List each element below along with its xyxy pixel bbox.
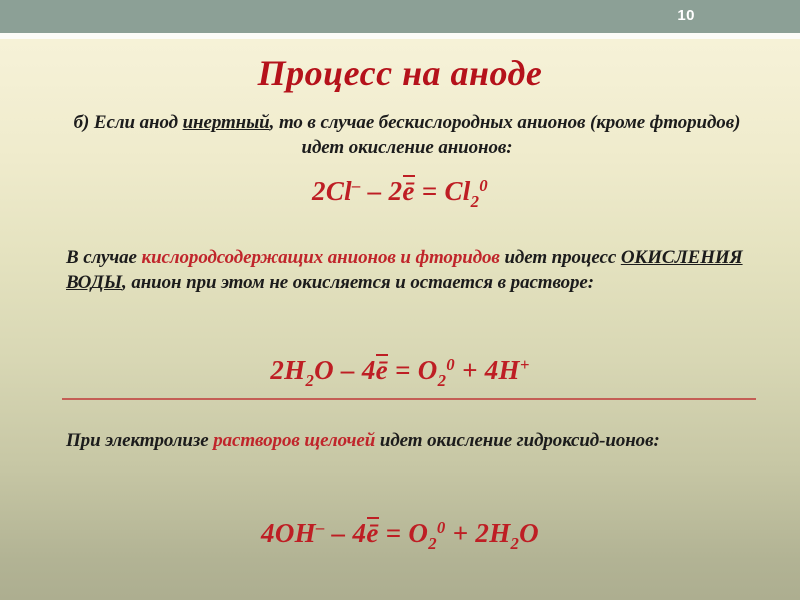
eq1-product: Cl — [444, 176, 470, 206]
eq3-equals: = — [379, 518, 409, 548]
eq2-product-1: O — [418, 355, 438, 385]
eq3-coefficient-1: 4 — [261, 518, 275, 548]
eq2-coefficient-2: 4 — [362, 355, 376, 385]
eq1-coefficient-2: 2 — [389, 176, 403, 206]
eq2-product-1-subscript: 2 — [438, 371, 447, 390]
eq2-species-1: H — [284, 355, 305, 385]
para3-segment-3: идет окисление гидроксид-ионов: — [375, 430, 659, 451]
eq1-species-1: Cl — [326, 176, 352, 206]
eq2-product-2-superscript: + — [520, 355, 530, 374]
paragraph-water-oxidation: В случае кислородсодержащих анионов и фт… — [66, 245, 766, 295]
eq2-species-1-tail: O — [314, 355, 334, 385]
equation-chloride-oxidation: 2Cl– – 2ē = Cl20 — [0, 176, 800, 212]
eq3-charge-1: – — [316, 518, 325, 537]
para2-segment-3: идет процесс — [500, 247, 621, 268]
para1-underlined-term: инертный — [183, 112, 270, 133]
eq2-coefficient-3: 4 — [485, 355, 499, 385]
slide-canvas: 10 Процесс на аноде б) Если анод инертны… — [0, 0, 800, 600]
page-number: 10 — [677, 6, 695, 26]
eq2-operator-2: + — [455, 355, 485, 385]
eq1-product-superscript: 0 — [479, 176, 488, 195]
eq3-operator-2: + — [446, 518, 476, 548]
eq1-electron: ē — [402, 176, 414, 207]
header-divider-strip — [0, 33, 800, 39]
eq3-product-1-subscript: 2 — [428, 534, 437, 553]
eq3-species-1: OH — [275, 518, 316, 548]
eq2-equals: = — [388, 355, 418, 385]
eq3-coefficient-2: 4 — [353, 518, 367, 548]
para3-highlight-alkali: растворов щелочей — [213, 430, 375, 451]
para2-highlight-anions: кислородсодержащих анионов и фторидов — [142, 247, 500, 268]
equation-water-oxidation: 2H2O – 4ē = O20 + 4H+ — [0, 355, 800, 391]
eq2-product-1-superscript: 0 — [446, 355, 455, 374]
para2-segment-5: , анион при этом не окисляется и остаетс… — [122, 272, 594, 293]
eq3-product-2-subscript: 2 — [511, 534, 520, 553]
eq1-equals: = — [415, 176, 445, 206]
paragraph-inert-anode: б) Если анод инертный, то в случае бески… — [62, 110, 752, 160]
eq1-charge-1: – — [352, 176, 361, 195]
eq3-electron: ē — [366, 518, 378, 549]
eq2-electron: ē — [376, 355, 388, 386]
equation-hydroxide-oxidation: 4OH– – 4ē = O20 + 2H2O — [0, 518, 800, 554]
para1-prefix: б) Если анод — [74, 112, 183, 133]
eq1-operator-1: – — [361, 176, 389, 206]
para2-segment-1: В случае — [66, 247, 142, 268]
eq3-product-2-tail: O — [519, 518, 539, 548]
eq2-operator-1: – — [334, 355, 362, 385]
horizontal-divider-rule — [62, 398, 756, 400]
eq2-product-2: H — [499, 355, 520, 385]
eq1-coefficient-1: 2 — [312, 176, 326, 206]
eq1-product-subscript: 2 — [471, 192, 480, 211]
page-title: Процесс на аноде — [0, 52, 800, 94]
eq3-product-1-superscript: 0 — [437, 518, 446, 537]
eq3-coefficient-3: 2 — [475, 518, 489, 548]
eq2-species-1-subscript: 2 — [305, 371, 314, 390]
para3-segment-1: При электролизе — [66, 430, 213, 451]
eq3-product-2: H — [489, 518, 510, 548]
para1-suffix: , то в случае бескислородных анионов — [270, 112, 586, 133]
paragraph-alkali-electrolysis: При электролизе растворов щелочей идет о… — [66, 428, 766, 453]
eq3-operator-1: – — [325, 518, 353, 548]
eq3-product-1: O — [408, 518, 428, 548]
eq2-coefficient-1: 2 — [270, 355, 284, 385]
